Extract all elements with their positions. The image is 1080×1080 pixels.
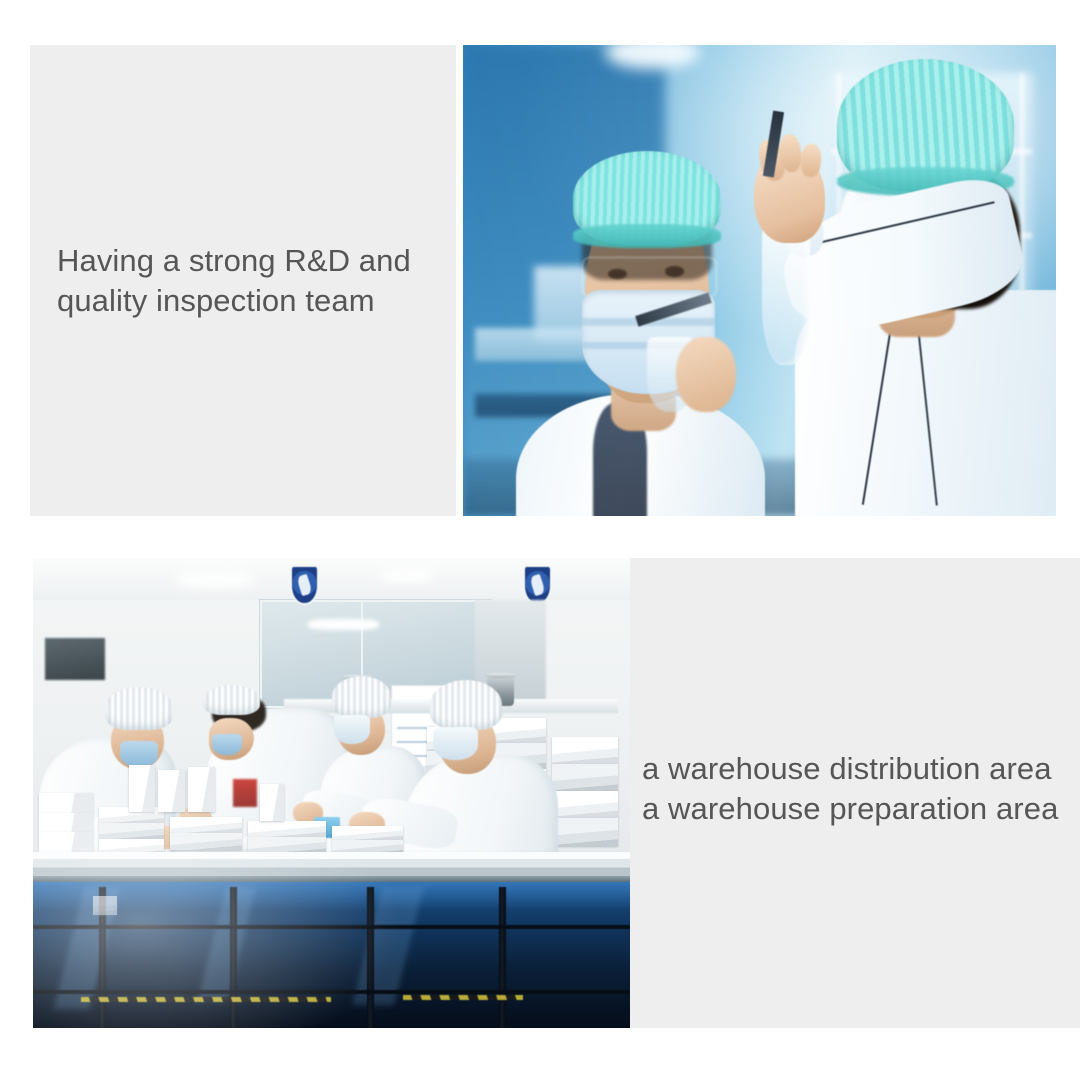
cleanroom-ceiling-light-1	[176, 572, 254, 587]
floor-hazard-tape-1	[81, 997, 332, 1002]
packer-4-hairnet	[430, 680, 502, 729]
carton-upright-1	[129, 765, 156, 812]
carton	[39, 832, 93, 852]
packer-1-face-mask	[120, 741, 159, 767]
rd-quality-caption: Having a strong R&D and quality inspecti…	[57, 241, 447, 322]
packer-3-hairnet	[332, 676, 392, 718]
cleanroom-side-window	[45, 638, 105, 680]
warehouse-caption-panel: a warehouse distribution area a warehous…	[630, 558, 1080, 1028]
section-rd-quality: Having a strong R&D and quality inspecti…	[0, 45, 1080, 516]
carton	[248, 837, 326, 853]
carton	[99, 823, 165, 839]
carton	[39, 813, 93, 833]
packer-1-hairnet	[105, 687, 174, 729]
packer-2-face-mask	[212, 734, 242, 755]
lab-quality-inspection-photo	[463, 45, 1056, 516]
table-crossbar-1	[33, 925, 630, 929]
lab-flask-main	[762, 224, 809, 365]
lab-worker-left-hand	[676, 337, 735, 412]
table-crossbar-2	[33, 990, 630, 994]
cleanroom-wall-sign-1	[290, 565, 319, 605]
packer-2-red-item	[233, 779, 257, 807]
carton	[552, 791, 618, 818]
packer-3-face-mask	[334, 715, 370, 743]
carton-upright-3	[188, 767, 215, 812]
carton-under-table	[93, 896, 117, 915]
carton	[170, 833, 242, 850]
warehouse-packing-photo	[33, 558, 630, 1028]
carton-upright-4	[260, 784, 284, 822]
carton-upright-2	[158, 770, 185, 812]
cleanroom-window-light	[308, 619, 380, 630]
floor-hazard-tape-2	[403, 995, 522, 1000]
carton	[552, 737, 618, 764]
table-leg-2	[230, 887, 237, 1028]
rd-quality-caption-panel: Having a strong R&D and quality inspecti…	[30, 45, 456, 516]
packer-2-hairnet	[203, 685, 260, 716]
cleanroom-wall-sign-2	[523, 565, 552, 605]
carton	[552, 764, 618, 791]
carton	[248, 821, 326, 837]
packer-4-face-mask	[433, 727, 478, 760]
lab-rack-post-2	[1020, 73, 1024, 318]
table-leg-4	[499, 887, 506, 1028]
lab-worker-left-hairnet-band	[573, 224, 721, 248]
carton	[170, 817, 242, 834]
carton	[332, 826, 404, 840]
steel-table-edge	[33, 876, 630, 883]
section-warehouse: a warehouse distribution area a warehous…	[0, 558, 1080, 1028]
table-underside-glow	[33, 882, 630, 910]
carton	[39, 793, 93, 813]
cleanroom-ceiling-light-2	[379, 569, 433, 581]
notice-board-line-2	[397, 741, 430, 743]
table-leg-3	[367, 887, 374, 1028]
page-root: Having a strong R&D and quality inspecti…	[0, 0, 1080, 1080]
warehouse-caption: a warehouse distribution area a warehous…	[642, 749, 1072, 830]
carton	[552, 818, 618, 845]
steel-table-top	[33, 852, 630, 877]
